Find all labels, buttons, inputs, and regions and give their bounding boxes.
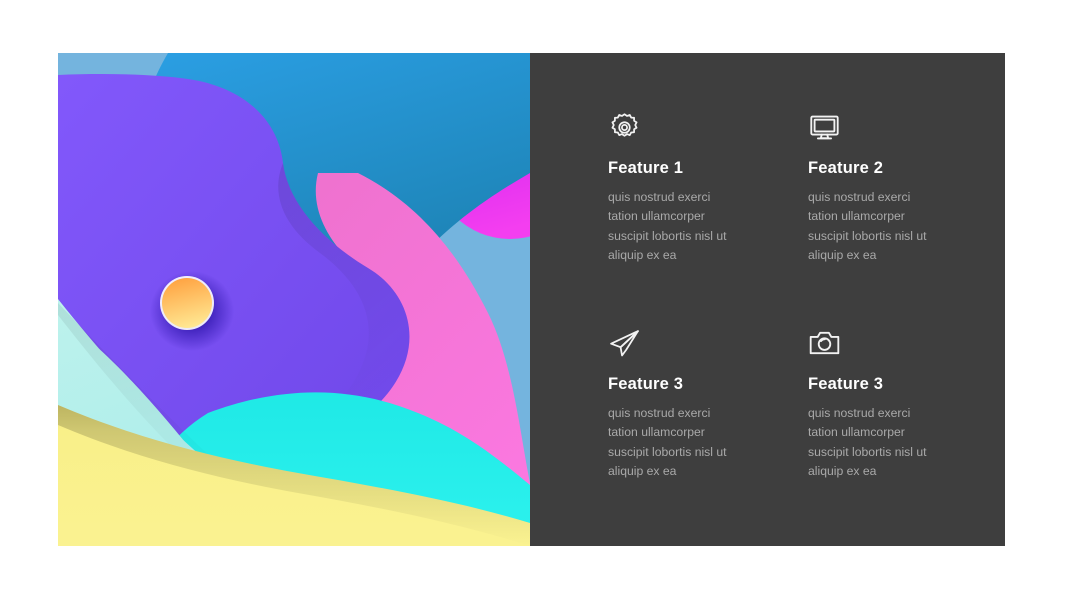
features-grid: Feature 1 quis nostrud exerci tation ull… xyxy=(608,111,968,481)
camera-icon xyxy=(808,327,1005,361)
slide-canvas: Feature 1 quis nostrud exerci tation ull… xyxy=(0,0,1067,600)
feature-item-1[interactable]: Feature 1 quis nostrud exerci tation ull… xyxy=(608,111,808,265)
artwork-image xyxy=(58,53,530,546)
abstract-artwork-svg xyxy=(58,53,530,546)
feature-body: quis nostrud exerci tation ullamcorper s… xyxy=(608,404,808,481)
feature-body: quis nostrud exerci tation ullamcorper s… xyxy=(608,188,808,265)
gear-icon xyxy=(608,111,808,145)
feature-body: quis nostrud exerci tation ullamcorper s… xyxy=(808,188,1005,265)
feature-title: Feature 3 xyxy=(608,375,808,393)
paper-plane-icon xyxy=(608,327,808,361)
monitor-icon xyxy=(808,111,1005,145)
feature-title: Feature 2 xyxy=(808,159,1005,177)
feature-title: Feature 3 xyxy=(808,375,1005,393)
feature-item-2[interactable]: Feature 2 quis nostrud exerci tation ull… xyxy=(808,111,1005,265)
feature-item-4[interactable]: Feature 3 quis nostrud exerci tation ull… xyxy=(808,327,1005,481)
feature-body: quis nostrud exerci tation ullamcorper s… xyxy=(808,404,1005,481)
features-panel: Feature 1 quis nostrud exerci tation ull… xyxy=(530,53,1005,546)
feature-card: Feature 1 quis nostrud exerci tation ull… xyxy=(58,53,1005,546)
feature-item-3[interactable]: Feature 3 quis nostrud exerci tation ull… xyxy=(608,327,808,481)
feature-title: Feature 1 xyxy=(608,159,808,177)
